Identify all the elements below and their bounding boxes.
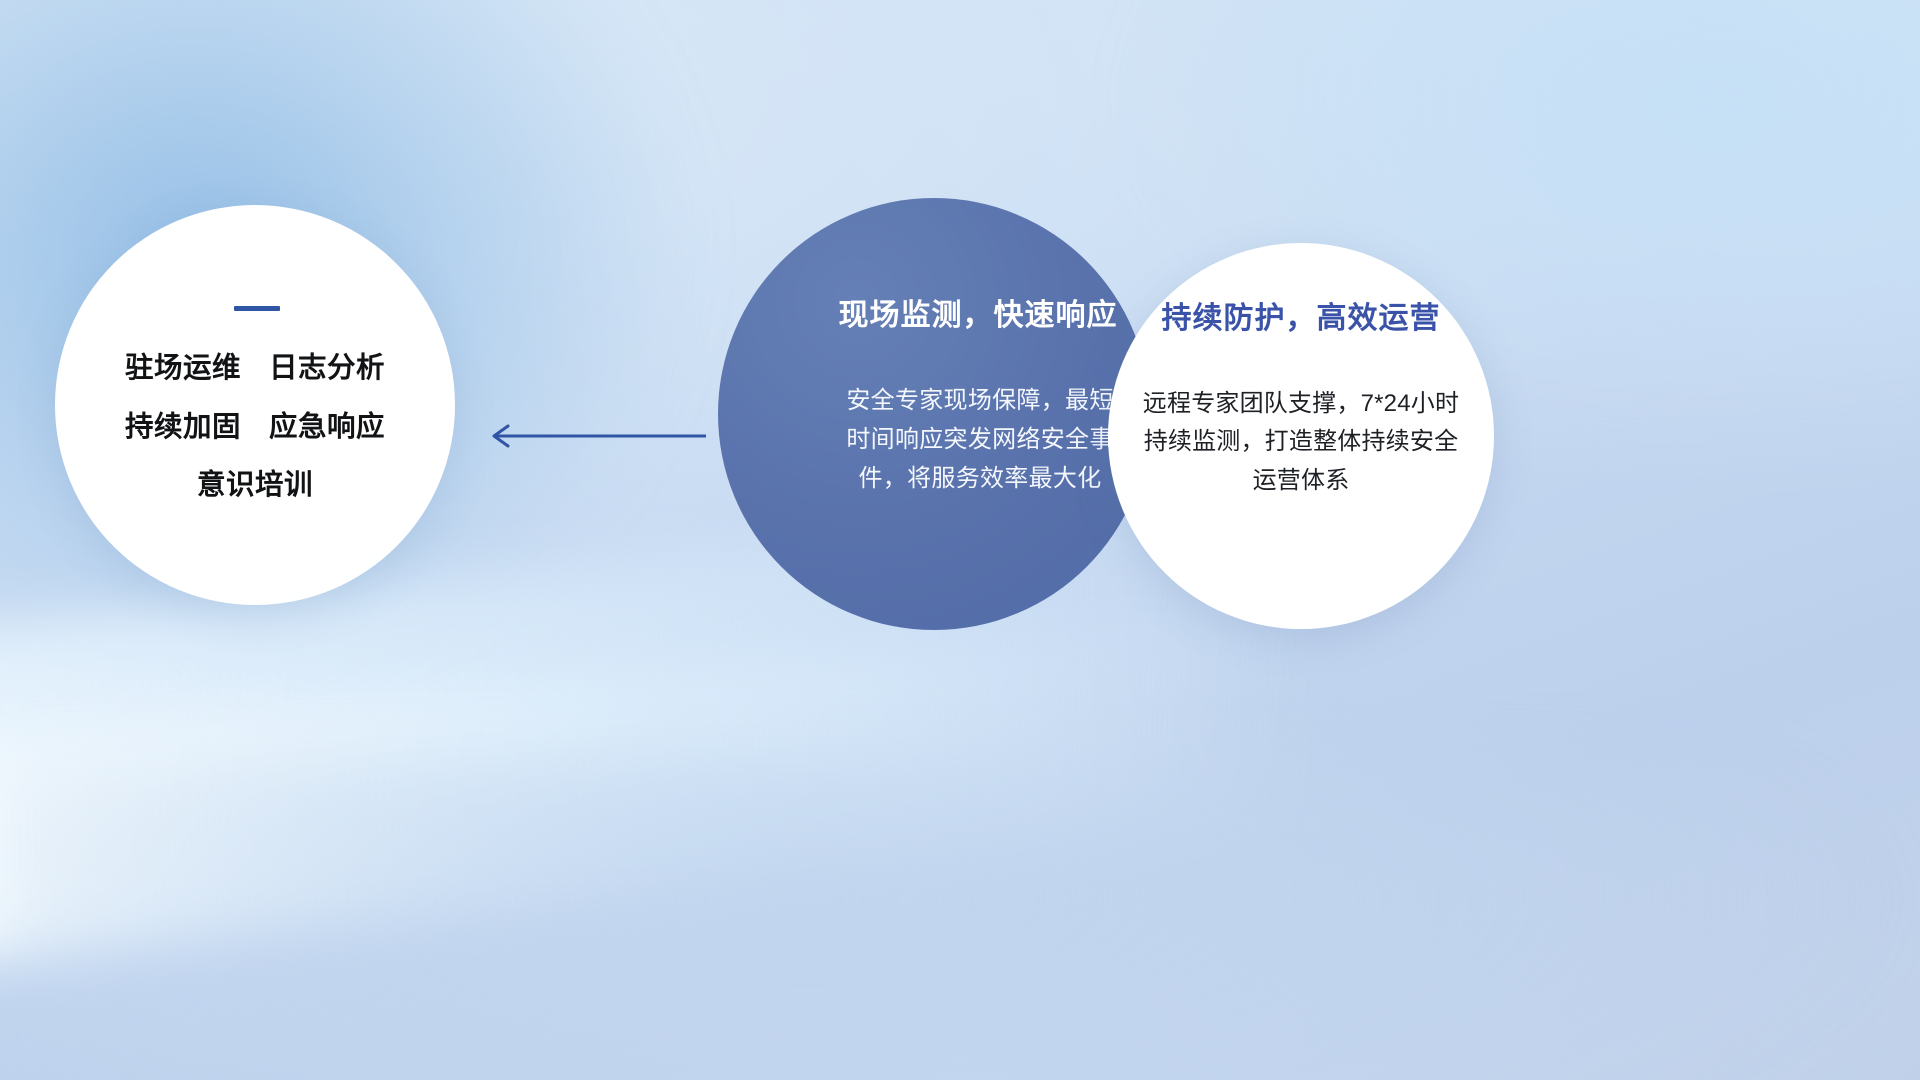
left-keyword-circle: 驻场运维 日志分析 持续加固 应急响应 意识培训 bbox=[55, 205, 455, 605]
flow-arrow-icon bbox=[480, 416, 706, 456]
right-circle-body: 远程专家团队支撑，7*24小时持续监测，打造整体持续安全运营体系 bbox=[1136, 385, 1466, 500]
middle-circle-title: 现场监测，快速响应 bbox=[839, 290, 1118, 334]
right-feature-circle: 持续防护，高效运营 远程专家团队支撑，7*24小时持续监测，打造整体持续安全运营… bbox=[1108, 243, 1494, 629]
keyword-label: 应急响应 bbox=[269, 410, 385, 446]
middle-feature-circle: 现场监测，快速响应 安全专家现场保障，最短时间响应突发网络安全事件，将服务效率最… bbox=[718, 198, 1150, 630]
keyword-label: 意识培训 bbox=[197, 468, 313, 504]
keyword-row: 意识培训 bbox=[197, 468, 313, 504]
keyword-label: 日志分析 bbox=[269, 351, 385, 387]
keyword-row: 驻场运维 日志分析 bbox=[125, 351, 385, 387]
keyword-label: 驻场运维 bbox=[125, 351, 241, 387]
keyword-row: 持续加固 应急响应 bbox=[125, 410, 385, 446]
divider-dash bbox=[234, 306, 280, 311]
right-circle-title: 持续防护，高效运营 bbox=[1162, 293, 1441, 337]
keyword-label: 持续加固 bbox=[125, 410, 241, 446]
middle-circle-body: 安全专家现场保障，最短时间响应突发网络安全事件，将服务效率最大化 bbox=[844, 382, 1116, 499]
